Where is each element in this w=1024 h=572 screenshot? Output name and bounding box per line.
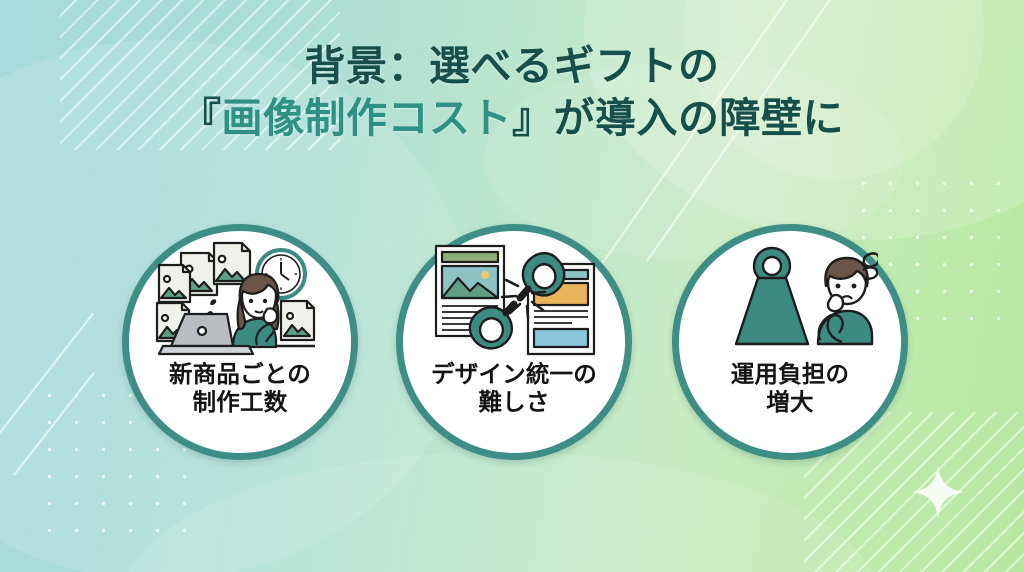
title-line-2: 『画像制作コスト』が導入の障壁に xyxy=(0,92,1024,144)
title-bracket-open: 『 xyxy=(180,95,222,141)
woman-at-laptop-with-image-files-and-clock-icon xyxy=(129,231,351,359)
card-label: デザイン統一の 難しさ xyxy=(431,361,597,416)
broken-chain-between-documents-icon xyxy=(403,231,625,359)
card-operational-burden[interactable]: 運用負担の 増大 xyxy=(672,224,908,460)
card-label-line-2: 制作工数 xyxy=(169,389,311,417)
card-label-line-1: 運用負担の xyxy=(731,361,850,389)
card-label-line-2: 難しさ xyxy=(431,389,597,417)
four-point-sparkle-icon xyxy=(910,464,966,520)
card-label: 運用負担の 増大 xyxy=(731,361,850,416)
card-label: 新商品ごとの 制作工数 xyxy=(169,361,311,416)
heavy-weight-and-worried-person-icon xyxy=(679,231,901,359)
title-line-1: 背景：選べるギフトの xyxy=(0,40,1024,92)
card-production-hours[interactable]: 新商品ごとの 制作工数 xyxy=(122,224,358,460)
card-label-line-2: 増大 xyxy=(731,389,850,417)
background-blob-bottom xyxy=(120,452,880,572)
slide-title: 背景：選べるギフトの 『画像制作コスト』が導入の障壁に xyxy=(0,40,1024,145)
problem-cards-row: 新商品ごとの 制作工数 xyxy=(0,224,1024,464)
card-label-line-1: デザイン統一の xyxy=(431,361,597,389)
title-highlight-text: 画像制作コスト xyxy=(222,95,513,141)
card-label-line-1: 新商品ごとの xyxy=(169,361,311,389)
card-design-consistency[interactable]: デザイン統一の 難しさ xyxy=(396,224,632,460)
title-tail-text: 』が導入の障壁に xyxy=(512,95,844,141)
